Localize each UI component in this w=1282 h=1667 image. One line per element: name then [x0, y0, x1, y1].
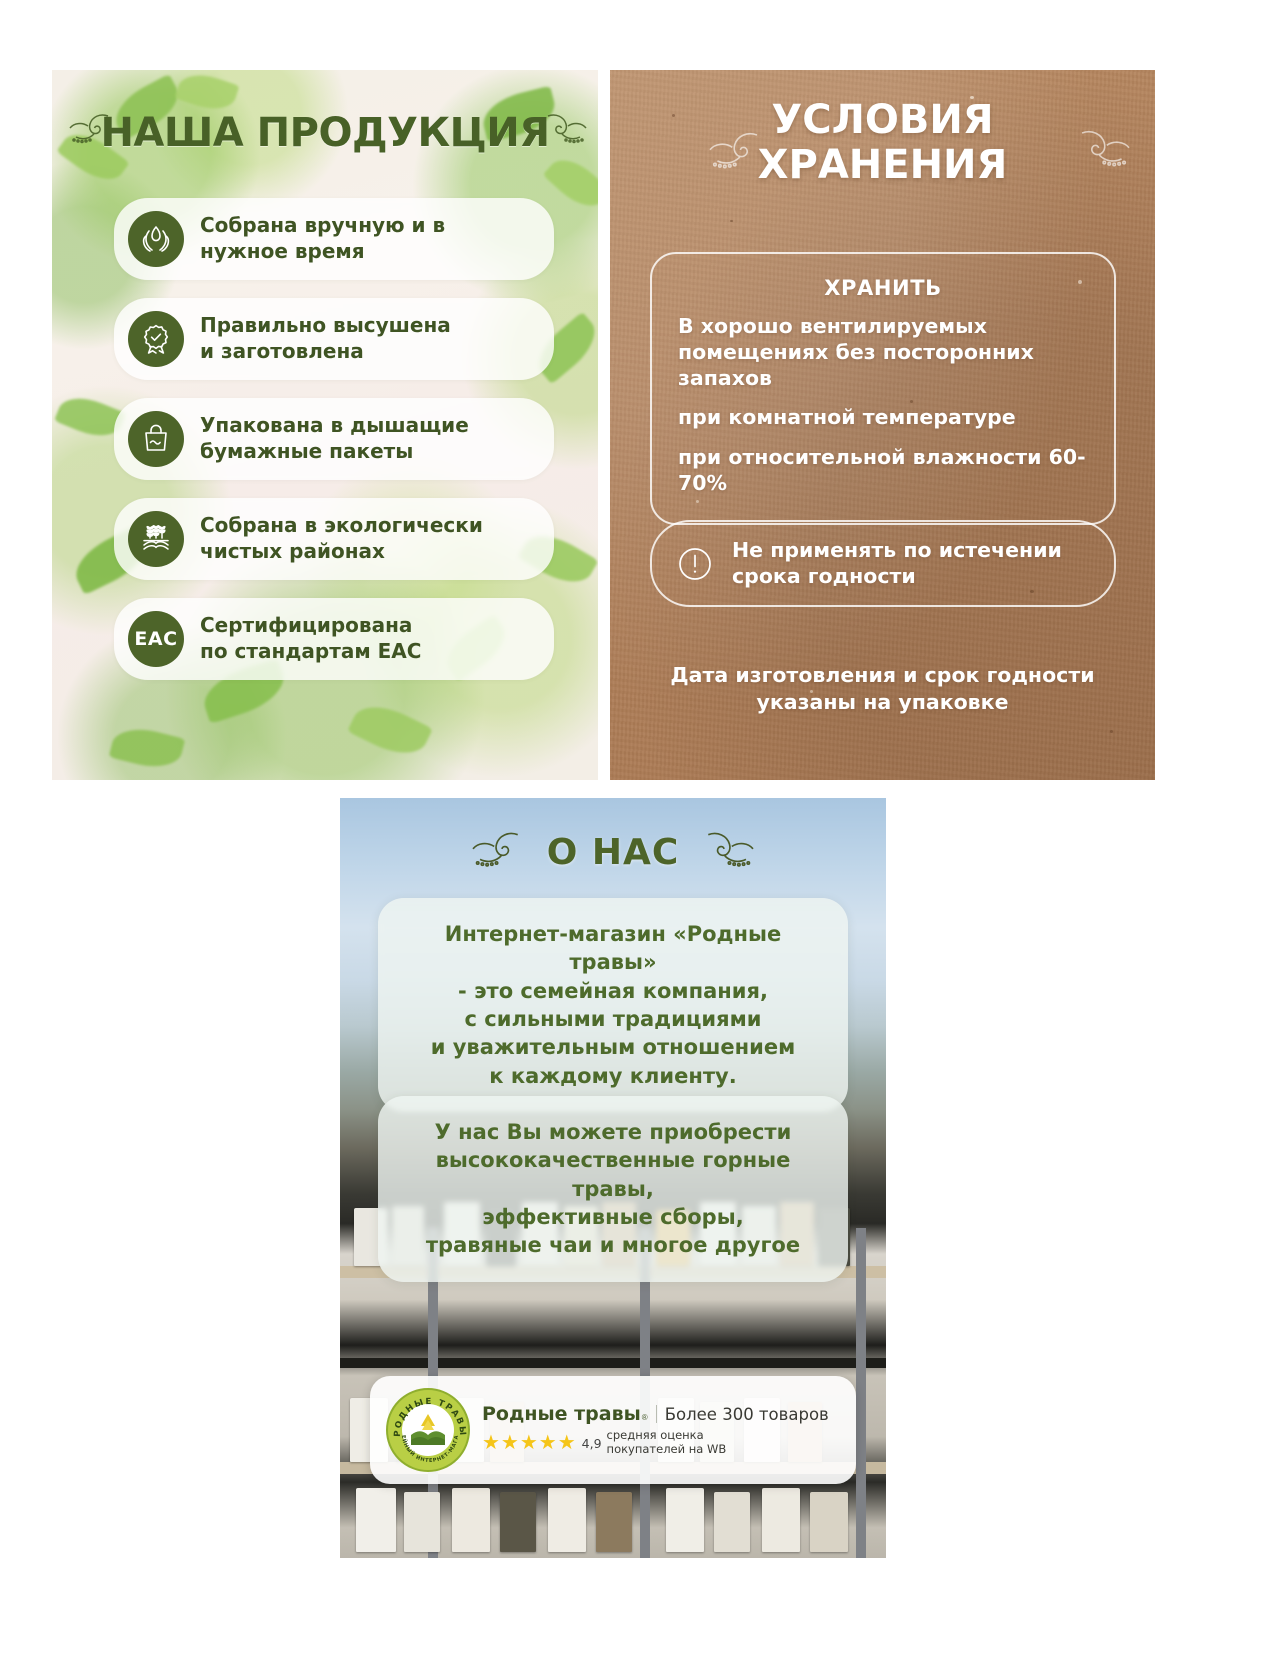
- brand-top-row: Родные травы ® Более 300 товаров: [482, 1403, 840, 1425]
- product-packet: [810, 1492, 848, 1552]
- swirl-flourish-icon: [705, 830, 761, 875]
- feature-label: Собрана в экологически чистых районах: [200, 513, 483, 564]
- about-text-line: - это семейная компания,: [402, 977, 824, 1005]
- about-panel: О НАС Интернет-магазин «Родные травы» - …: [340, 798, 886, 1558]
- shelf-post: [856, 1228, 866, 1558]
- expiry-warning-box: Не применять по истечении срока годности: [650, 520, 1116, 607]
- about-card-offer: У нас Вы можете приобрести высококачеств…: [378, 1096, 848, 1282]
- products-feature-list: Собрана вручную и в нужное время Правиль…: [114, 198, 554, 698]
- paper-bag-icon: [128, 411, 184, 467]
- star-rating-icon: ★★★★★: [482, 1433, 577, 1453]
- product-packet: [548, 1488, 586, 1552]
- field-wheat-icon: [128, 511, 184, 567]
- leaf-decor-icon: [109, 722, 186, 774]
- about-text-line: с сильными традициями: [402, 1005, 824, 1033]
- paper-speck: [730, 220, 733, 222]
- brand-name: Родные травы: [482, 1403, 641, 1425]
- feature-item-eco-region[interactable]: Собрана в экологически чистых районах: [114, 498, 554, 580]
- storage-conditions-box: ХРАНИТЬ В хорошо вентилируемых помещения…: [650, 252, 1116, 525]
- storage-footer-note: Дата изготовления и срок годности указан…: [610, 662, 1155, 715]
- swirl-flourish-icon: [465, 830, 521, 875]
- shelf-board: [340, 1358, 886, 1368]
- storage-condition-line: В хорошо вентилируемых помещениях без по…: [678, 314, 1088, 391]
- expiry-warning-text: Не применять по истечении срока годности: [732, 538, 1062, 589]
- storage-panel: УСЛОВИЯ ХРАНЕНИЯ ХРАНИТЬ В хорошо вентил…: [610, 70, 1155, 780]
- product-packet: [714, 1492, 750, 1552]
- about-text-line: эффективные сборы,: [402, 1203, 824, 1231]
- brand-name-block: Родные травы ®: [482, 1403, 648, 1425]
- eac-badge-icon: EAC: [128, 611, 184, 667]
- storage-condition-line: при комнатной температуре: [678, 405, 1088, 431]
- hands-holding-leaf-icon: [128, 211, 184, 267]
- exclamation-circle-icon: [674, 543, 716, 585]
- feature-label: Упакована в дышащие бумажные пакеты: [200, 413, 469, 464]
- about-title: О НАС: [547, 832, 680, 873]
- about-text-line: Интернет-магазин «Родные травы»: [402, 920, 824, 977]
- storage-box-heading: ХРАНИТЬ: [678, 276, 1088, 300]
- about-text-line: У нас Вы можете приобрести: [402, 1118, 824, 1146]
- logo-arc-text: РОДНЫЕ ТРАВЫ СЕМЕЙНЫЙ ИНТЕРНЕТ-МАГАЗИН: [388, 1390, 468, 1470]
- rating-note: средняя оценка покупателей на WB: [607, 1429, 727, 1456]
- product-packet: [404, 1492, 440, 1552]
- feature-label: Сертифицирована по стандартам ЕАС: [200, 613, 421, 664]
- about-text-line: и уважительным отношением: [402, 1033, 824, 1061]
- feature-item-dried[interactable]: Правильно высушена и заготовлена: [114, 298, 554, 380]
- brand-info-block: Родные травы ® Более 300 товаров ★★★★★ 4…: [482, 1403, 840, 1456]
- rating-value: 4,9: [582, 1436, 602, 1451]
- products-title: НАША ПРОДУКЦИЯ: [52, 110, 598, 156]
- feature-label: Правильно высушена и заготовлена: [200, 313, 451, 364]
- quality-award-ribbon-icon: [128, 311, 184, 367]
- storage-title: УСЛОВИЯ ХРАНЕНИЯ: [610, 98, 1155, 188]
- product-packet: [500, 1492, 536, 1552]
- feature-item-handpicked[interactable]: Собрана вручную и в нужное время: [114, 198, 554, 280]
- leaf-decor-icon: [347, 695, 433, 764]
- products-count: Более 300 товаров: [665, 1405, 829, 1424]
- rating-row: ★★★★★ 4,9 средняя оценка покупателей на …: [482, 1429, 840, 1456]
- paper-speck: [1110, 730, 1113, 733]
- feature-label: Собрана вручную и в нужное время: [200, 213, 445, 264]
- about-text-line: травяные чаи и многое другое: [402, 1231, 824, 1259]
- feature-item-certified[interactable]: EAC Сертифицирована по стандартам ЕАС: [114, 598, 554, 680]
- product-packet: [356, 1488, 396, 1552]
- divider: [656, 1405, 657, 1423]
- about-card-company: Интернет-магазин «Родные травы» - это се…: [378, 898, 848, 1112]
- feature-item-packaging[interactable]: Упакована в дышащие бумажные пакеты: [114, 398, 554, 480]
- storage-condition-line: при относительной влажности 60-70%: [678, 445, 1088, 497]
- about-text-line: высококачественные горные травы,: [402, 1146, 824, 1203]
- product-packet: [762, 1488, 800, 1552]
- product-packet: [666, 1488, 704, 1552]
- svg-text:РОДНЫЕ ТРАВЫ: РОДНЫЕ ТРАВЫ: [393, 1397, 467, 1437]
- brand-rating-bar: РОДНЫЕ ТРАВЫ СЕМЕЙНЫЙ ИНТЕРНЕТ-МАГАЗИН: [370, 1376, 856, 1484]
- products-panel: НАША ПРОДУКЦИЯ Собрана вручную и в нужно…: [52, 70, 598, 780]
- product-packet: [596, 1492, 632, 1552]
- about-title-row: О НАС: [340, 830, 886, 875]
- about-text-line: к каждому клиенту.: [402, 1062, 824, 1090]
- registered-mark-icon: ®: [642, 1413, 648, 1422]
- product-packet: [452, 1488, 490, 1552]
- rodnye-travy-logo: РОДНЫЕ ТРАВЫ СЕМЕЙНЫЙ ИНТЕРНЕТ-МАГАЗИН: [386, 1388, 470, 1472]
- infographic-page: НАША ПРОДУКЦИЯ Собрана вручную и в нужно…: [0, 0, 1282, 1667]
